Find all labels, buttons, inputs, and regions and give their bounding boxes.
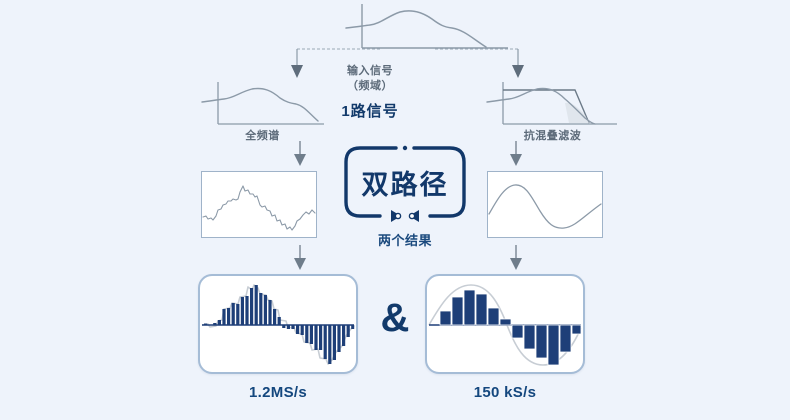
sine-waveform-chart [487,171,603,238]
dual-path-label: 双路径 [340,163,470,202]
two-results-label: 两个结果 [340,230,470,249]
full-spectrum-chart [200,80,325,132]
noisy-waveform-chart [201,171,317,238]
split-connector [285,38,530,80]
arrow-right-branch-to-mid [501,141,531,167]
low-rate-label: 150 kS/s [425,384,585,401]
arrow-mid-to-bottom-left [285,245,315,271]
low-rate-sampled-bars [425,274,585,374]
ampersand-conjunction: & [367,298,423,338]
high-rate-label: 1.2MS/s [198,384,358,401]
anti-alias-filter-chart [485,80,620,132]
arrow-mid-to-bottom-right [501,245,531,271]
arrow-left-branch-to-mid [285,141,315,167]
one-channel-signal-label: 1路信号 [310,100,430,121]
input-signal-caption-line2: （频域） [310,79,430,94]
high-rate-sampled-bars [198,274,358,374]
diagram-canvas: 输入信号 （频域） 1路信号 全频谱 [0,0,790,420]
